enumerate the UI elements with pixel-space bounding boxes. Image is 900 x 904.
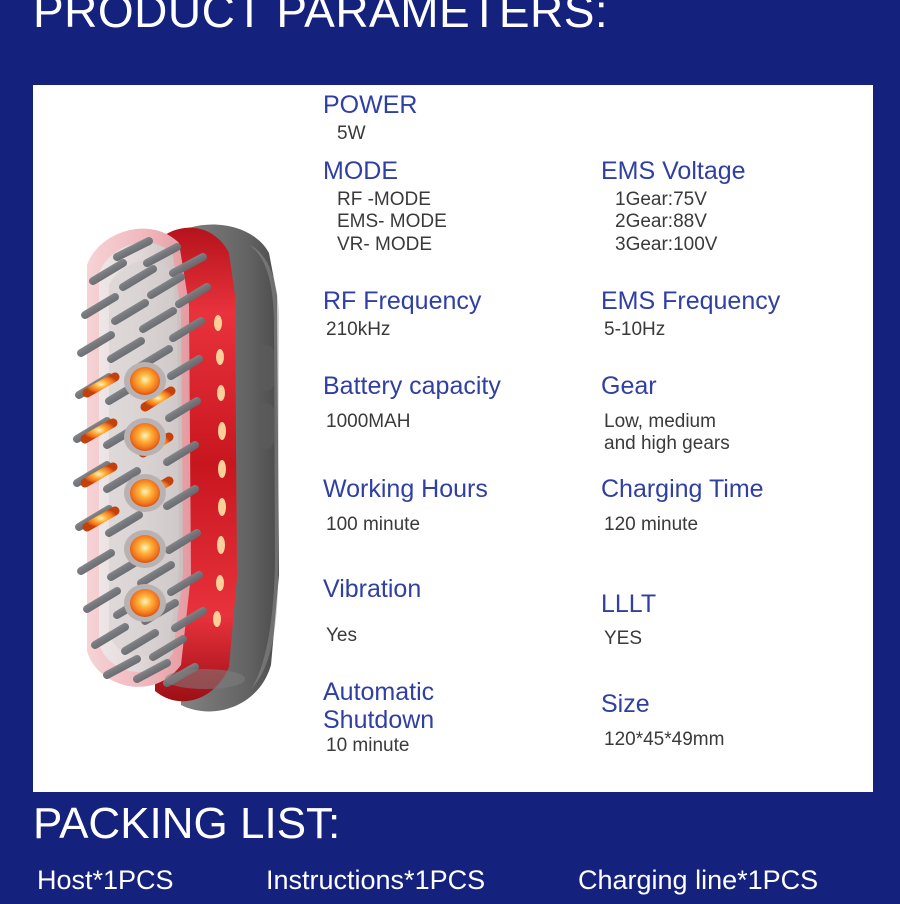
spec-value-size: 120*45*49mm: [601, 729, 876, 751]
spec-column-left: POWER 5W MODE RF -MODE EMS- MODE VR- MOD…: [323, 85, 598, 792]
spec-value-working-hours: 100 minute: [323, 514, 598, 536]
spec-label-gear: Gear: [601, 372, 876, 400]
spec-value-automatic-shutdown: 10 minute: [323, 735, 598, 757]
spec-label-rf-frequency: RF Frequency: [323, 287, 598, 315]
spec-value-battery-capacity: 1000MAH: [323, 411, 598, 433]
spec-label-working-hours: Working Hours: [323, 475, 598, 503]
spec-value-vibration: Yes: [323, 625, 598, 647]
spec-value-lllt: YES: [601, 628, 876, 650]
spec-item-power: POWER 5W: [323, 91, 598, 145]
spec-card: POWER 5W MODE RF -MODE EMS- MODE VR- MOD…: [33, 85, 873, 792]
spec-item-lllt: LLLT YES: [601, 590, 876, 650]
packing-list-item-charging-line: Charging line*1PCS: [578, 864, 818, 896]
packing-list-item-host: Host*1PCS: [37, 864, 174, 896]
packing-list-title: PACKING LIST:: [33, 802, 340, 846]
spec-item-gear: Gear Low, medium and high gears: [601, 372, 876, 456]
spec-item-automatic-shutdown: Automatic Shutdown 10 minute: [323, 678, 598, 757]
spec-value-ems-voltage: 1Gear:75V 2Gear:88V 3Gear:100V: [601, 189, 876, 256]
spec-value-power: 5W: [323, 123, 598, 145]
spec-label-ems-voltage: EMS Voltage: [601, 157, 876, 185]
spec-label-ems-frequency: EMS Frequency: [601, 287, 876, 315]
spec-value-rf-frequency: 210kHz: [323, 319, 598, 341]
spec-label-battery-capacity: Battery capacity: [323, 372, 598, 400]
spec-value-charging-time: 120 minute: [601, 514, 876, 536]
spec-label-mode: MODE: [323, 157, 598, 185]
spec-table: POWER 5W MODE RF -MODE EMS- MODE VR- MOD…: [323, 85, 873, 792]
spec-label-power: POWER: [323, 91, 598, 119]
spec-item-ems-frequency: EMS Frequency 5-10Hz: [601, 287, 876, 341]
spec-item-rf-frequency: RF Frequency 210kHz: [323, 287, 598, 341]
spec-item-ems-voltage: EMS Voltage 1Gear:75V 2Gear:88V 3Gear:10…: [601, 157, 876, 256]
spec-label-size: Size: [601, 690, 876, 718]
spec-item-battery-capacity: Battery capacity 1000MAH: [323, 372, 598, 433]
spec-column-right: EMS Voltage 1Gear:75V 2Gear:88V 3Gear:10…: [601, 85, 876, 792]
spec-item-working-hours: Working Hours 100 minute: [323, 475, 598, 536]
spec-label-vibration: Vibration: [323, 575, 598, 603]
spec-label-lllt: LLLT: [601, 590, 876, 618]
page-title: PRODUCT PARAMETERS:: [33, 0, 608, 34]
spec-item-charging-time: Charging Time 120 minute: [601, 475, 876, 536]
spec-value-gear: Low, medium and high gears: [601, 411, 876, 456]
spec-value-mode: RF -MODE EMS- MODE VR- MODE: [323, 189, 598, 256]
spec-item-vibration: Vibration Yes: [323, 575, 598, 647]
spec-item-mode: MODE RF -MODE EMS- MODE VR- MODE: [323, 157, 598, 256]
packing-list: Host*1PCS Instructions*1PCS Charging lin…: [33, 864, 893, 904]
spec-value-ems-frequency: 5-10Hz: [601, 319, 876, 341]
product-image: [53, 145, 303, 735]
packing-list-item-instructions: Instructions*1PCS: [266, 864, 485, 896]
spec-label-charging-time: Charging Time: [601, 475, 876, 503]
spec-label-automatic-shutdown: Automatic Shutdown: [323, 678, 598, 734]
spec-item-size: Size 120*45*49mm: [601, 690, 876, 751]
